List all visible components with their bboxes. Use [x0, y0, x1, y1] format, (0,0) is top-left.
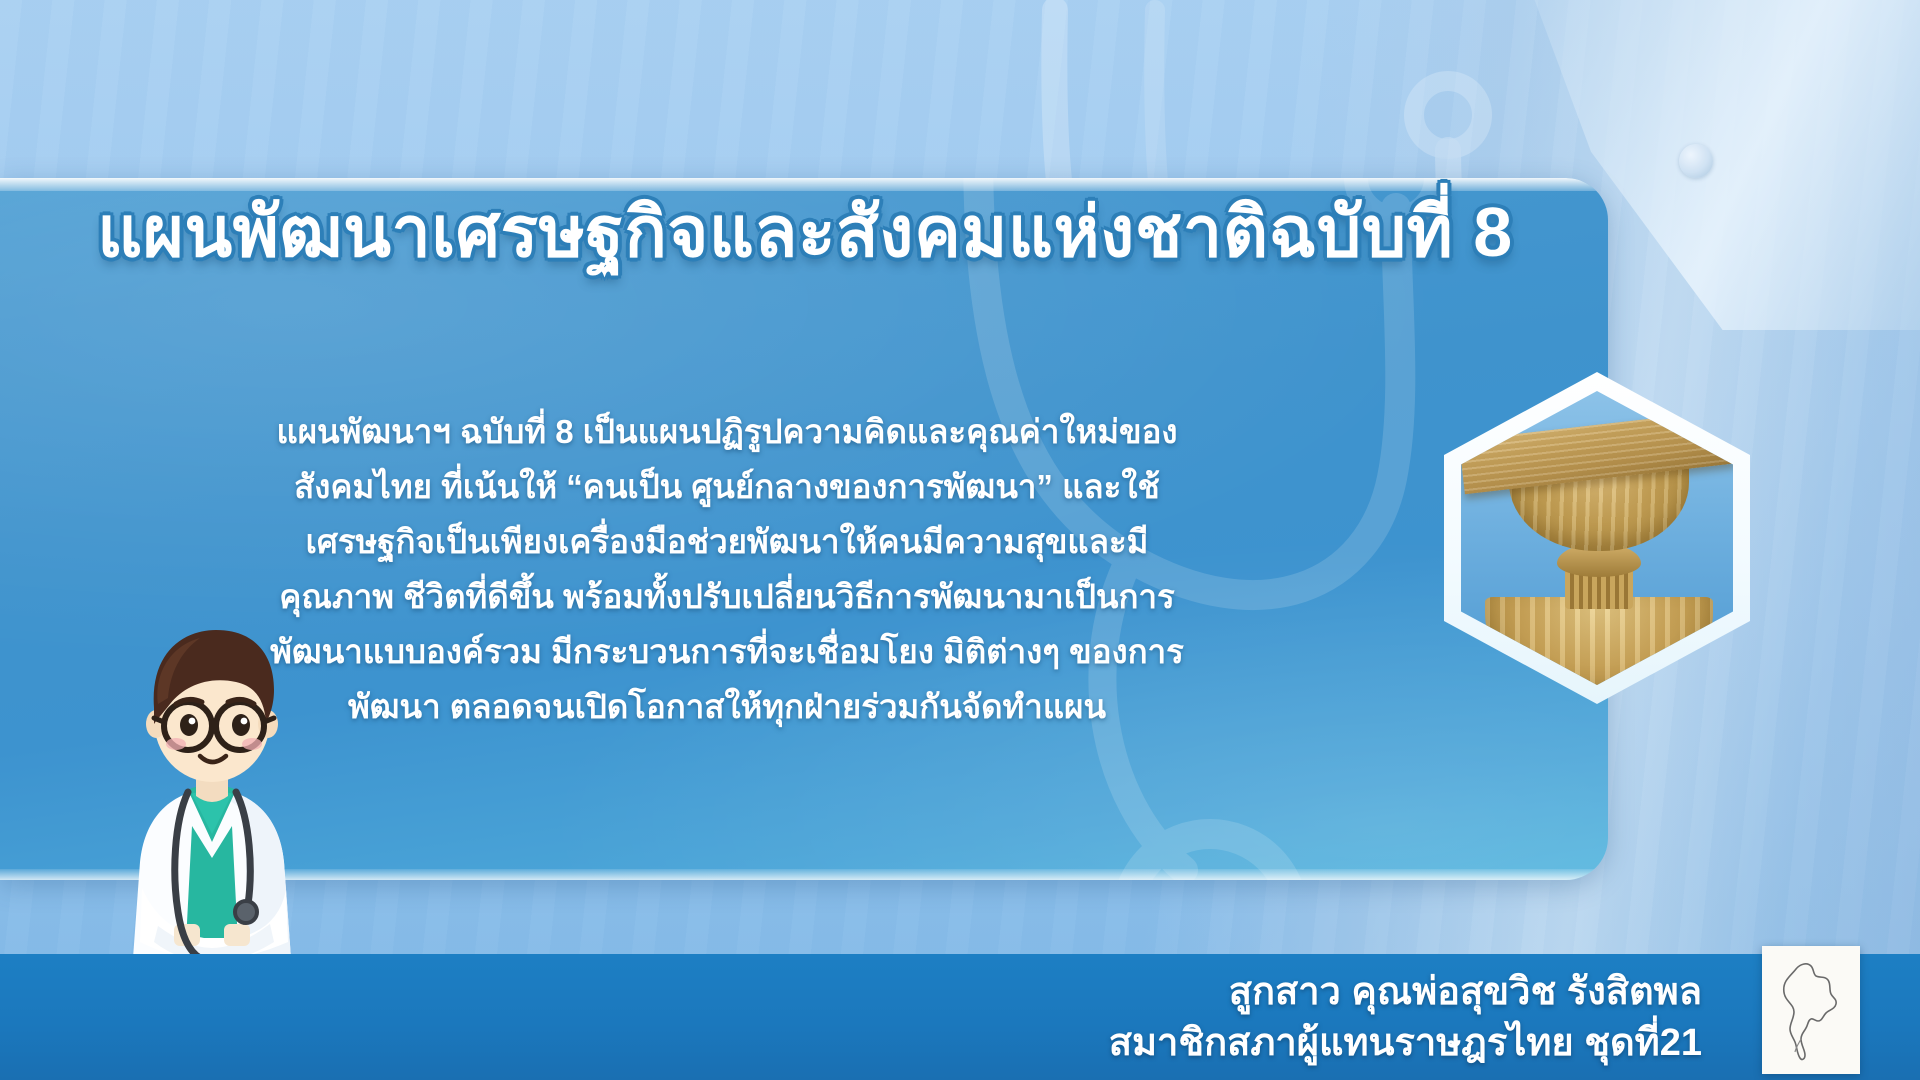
page-title: แผนพัฒนาเศรษฐกิจและสังคมแห่งชาติฉบับที่ … — [0, 196, 1610, 270]
body-line: พัฒนา ตลอดจนเปิดโอกาสให้ทุกฝ่ายร่วมกันจั… — [262, 679, 1192, 734]
thailand-map-icon — [1774, 955, 1848, 1065]
body-line: แผนพัฒนาฯ ฉบับที่ 8 เป็นแผนปฏิรูปความคิด… — [262, 404, 1192, 459]
footer-bar: สูกสาว คุณพ่อสุขวิช รังสิตพล สมาชิกสภาผู… — [0, 954, 1920, 1080]
footer-line-1: สูกสาว คุณพ่อสุขวิช รังสิตพล — [702, 966, 1702, 1018]
footer-credit: สูกสาว คุณพ่อสุขวิช รังสิตพล สมาชิกสภาผู… — [702, 966, 1702, 1068]
body-line: สังคมไทย ที่เน้นให้ “คนเป็น ศูนย์กลางของ… — [262, 459, 1192, 514]
thailand-map-card — [1762, 946, 1860, 1074]
body-line: พัฒนาแบบองค์รวม มีกระบวนการที่จะเชื่อมโย… — [262, 624, 1192, 679]
body-line: คุณภาพ ชีวิตที่ดีขึ้น พร้อมทั้งปรับเปลี่… — [262, 569, 1192, 624]
body-line: เศรษฐกิจเป็นเพียงเครื่องมือช่วยพัฒนาให้ค… — [262, 514, 1192, 569]
hexagon-photo-frame — [1444, 372, 1750, 704]
footer-line-2: สมาชิกสภาผู้แทนราษฎรไทย ชุดที่21 — [702, 1018, 1702, 1068]
body-paragraph: แผนพัฒนาฯ ฉบับที่ 8 เป็นแผนปฏิรูปความคิด… — [262, 404, 1192, 734]
